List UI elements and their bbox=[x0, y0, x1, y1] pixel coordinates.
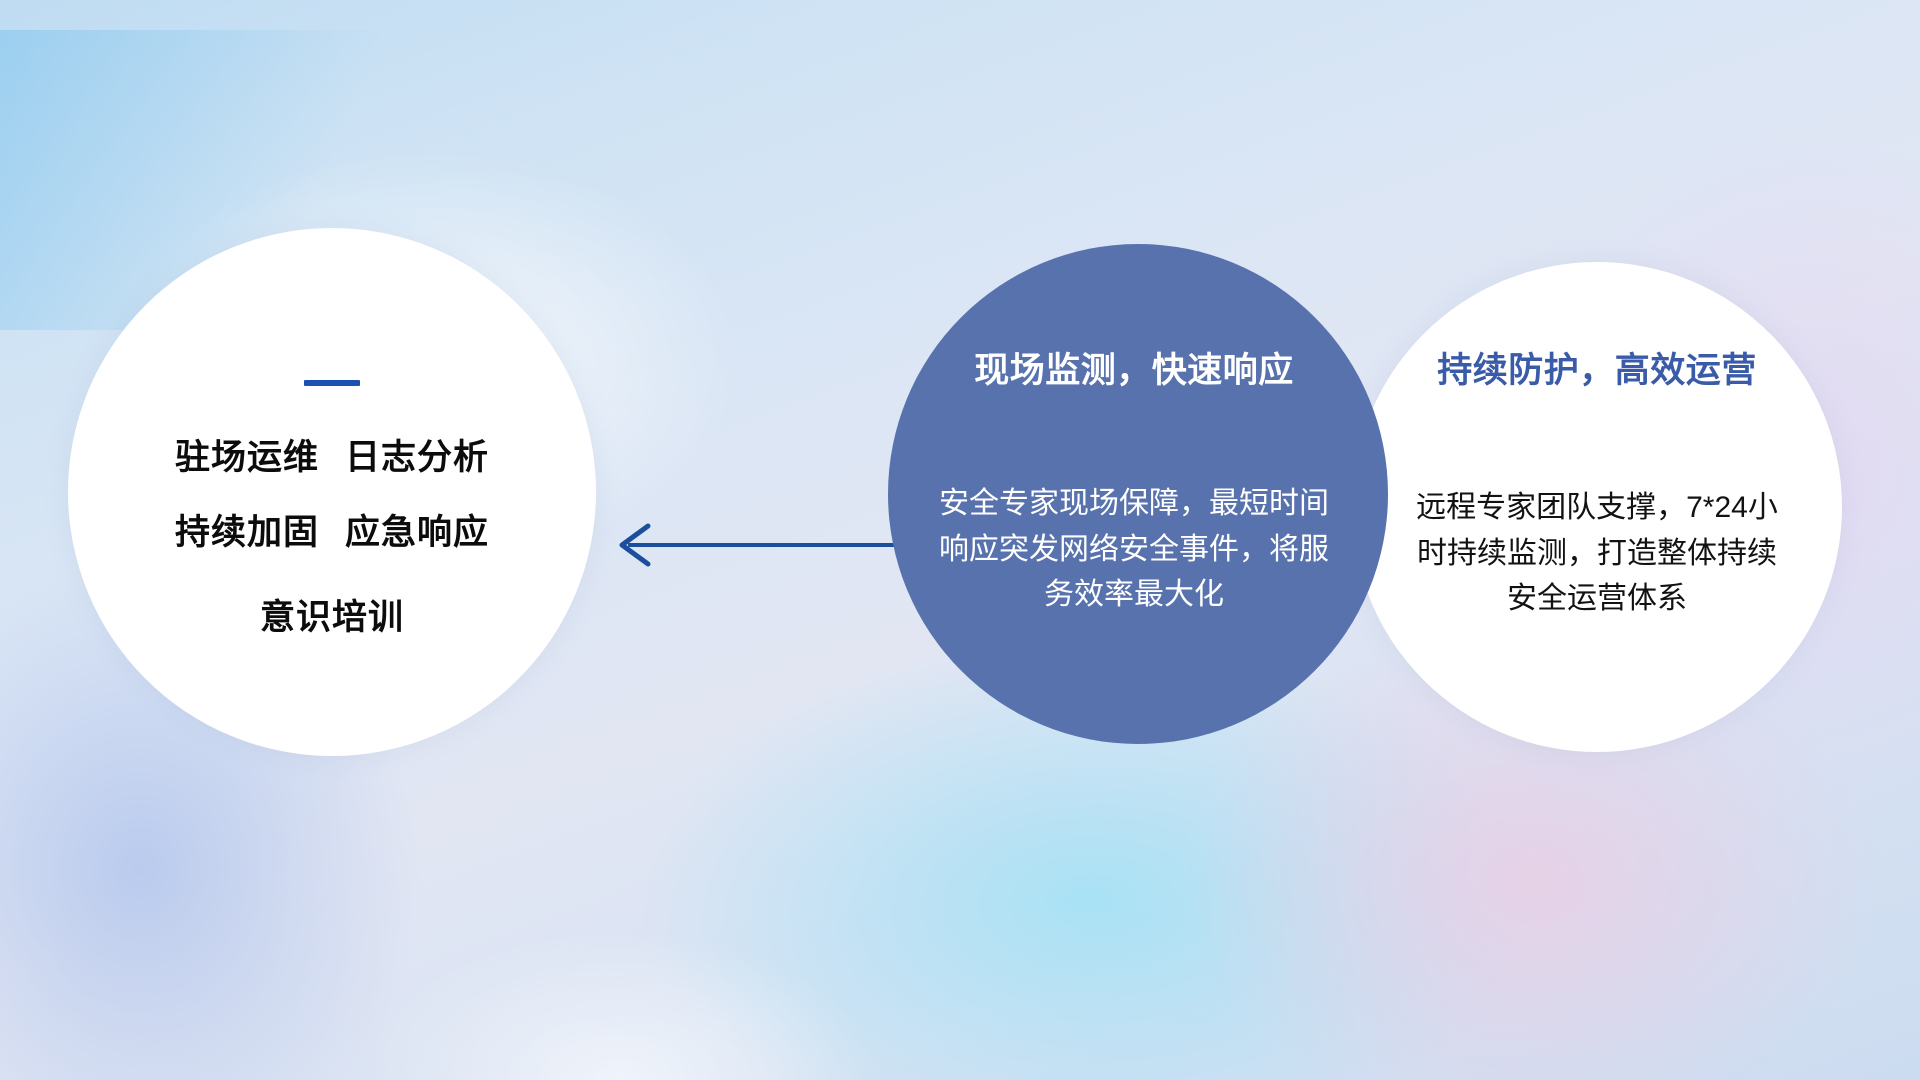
onsite-monitoring-circle[interactable]: 现场监测，快速响应 安全专家现场保障，最短时间响应突发网络安全事件，将服务效率最… bbox=[888, 244, 1388, 744]
capability-item-5: 意识培训 bbox=[260, 598, 404, 637]
background-glow-bottom-white bbox=[360, 930, 880, 1080]
onsite-monitoring-body: 安全专家现场保障，最短时间响应突发网络安全事件，将服务效率最大化 bbox=[872, 481, 1396, 618]
capability-item-1: 驻场运维 bbox=[175, 438, 319, 477]
onsite-monitoring-title: 现场监测，快速响应 bbox=[872, 342, 1396, 393]
capability-item-3: 持续加固 bbox=[175, 513, 319, 552]
onsite-monitoring-content: 现场监测，快速响应 安全专家现场保障，最短时间响应突发网络安全事件，将服务效率最… bbox=[872, 342, 1396, 618]
capability-item-4: 应急响应 bbox=[345, 513, 489, 552]
capability-row-1: 驻场运维日志分析 bbox=[68, 440, 596, 475]
continuous-protection-title: 持续防护，高效运营 bbox=[1352, 342, 1842, 393]
capabilities-content: 驻场运维日志分析 持续加固应急响应 意识培训 bbox=[68, 380, 596, 635]
continuous-protection-content: 持续防护，高效运营 远程专家团队支撑，7*24小时持续监测，打造整体持续安全运营… bbox=[1352, 342, 1842, 622]
slide-canvas: 驻场运维日志分析 持续加固应急响应 意识培训 持续防护，高效运营 远程专家团队支… bbox=[0, 0, 1920, 1080]
continuous-protection-circle[interactable]: 持续防护，高效运营 远程专家团队支撑，7*24小时持续监测，打造整体持续安全运营… bbox=[1352, 262, 1842, 752]
capabilities-circle[interactable]: 驻场运维日志分析 持续加固应急响应 意识培训 bbox=[68, 228, 596, 756]
divider-line bbox=[304, 380, 360, 386]
capability-row-3: 意识培训 bbox=[68, 600, 596, 635]
continuous-protection-body: 远程专家团队支撑，7*24小时持续监测，打造整体持续安全运营体系 bbox=[1352, 485, 1842, 622]
capability-row-2: 持续加固应急响应 bbox=[68, 515, 596, 550]
capability-item-2: 日志分析 bbox=[345, 438, 489, 477]
